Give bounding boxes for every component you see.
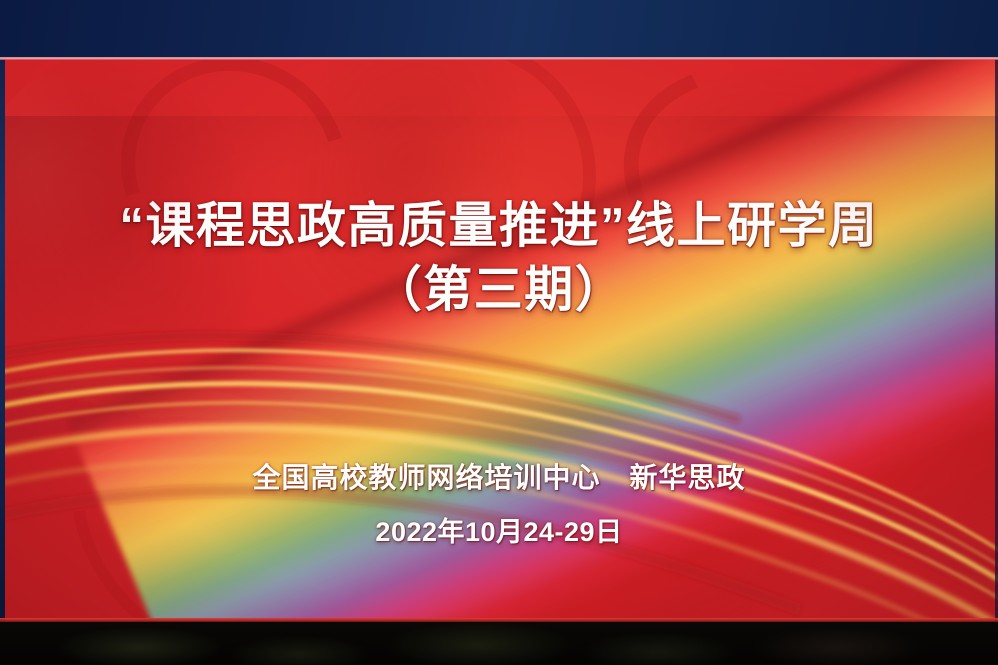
slide-stage: “课程思政高质量推进”线上研学周 （第三期） 全国高校教师网络培训中心 新华思政…: [0, 0, 998, 665]
top-band-hairline: [0, 57, 998, 60]
bottom-band-hairline: [0, 618, 998, 622]
credits-block: 全国高校教师网络培训中心 新华思政 2022年10月24-29日: [0, 458, 998, 550]
organizer-names: 全国高校教师网络培训中心 新华思政: [0, 458, 998, 498]
left-edge-strip: [0, 58, 5, 621]
page-title-line-2: （第三期）: [0, 260, 998, 320]
poster-background: “课程思政高质量推进”线上研学周 （第三期） 全国高校教师网络培训中心 新华思政…: [0, 58, 998, 621]
top-letterbox-band: [0, 0, 998, 58]
bottom-letterbox-band: [0, 621, 998, 665]
event-dates: 2022年10月24-29日: [0, 514, 998, 550]
page-title-line-1: “课程思政高质量推进”线上研学周: [0, 196, 998, 256]
headline-block: “课程思政高质量推进”线上研学周 （第三期）: [0, 196, 998, 320]
